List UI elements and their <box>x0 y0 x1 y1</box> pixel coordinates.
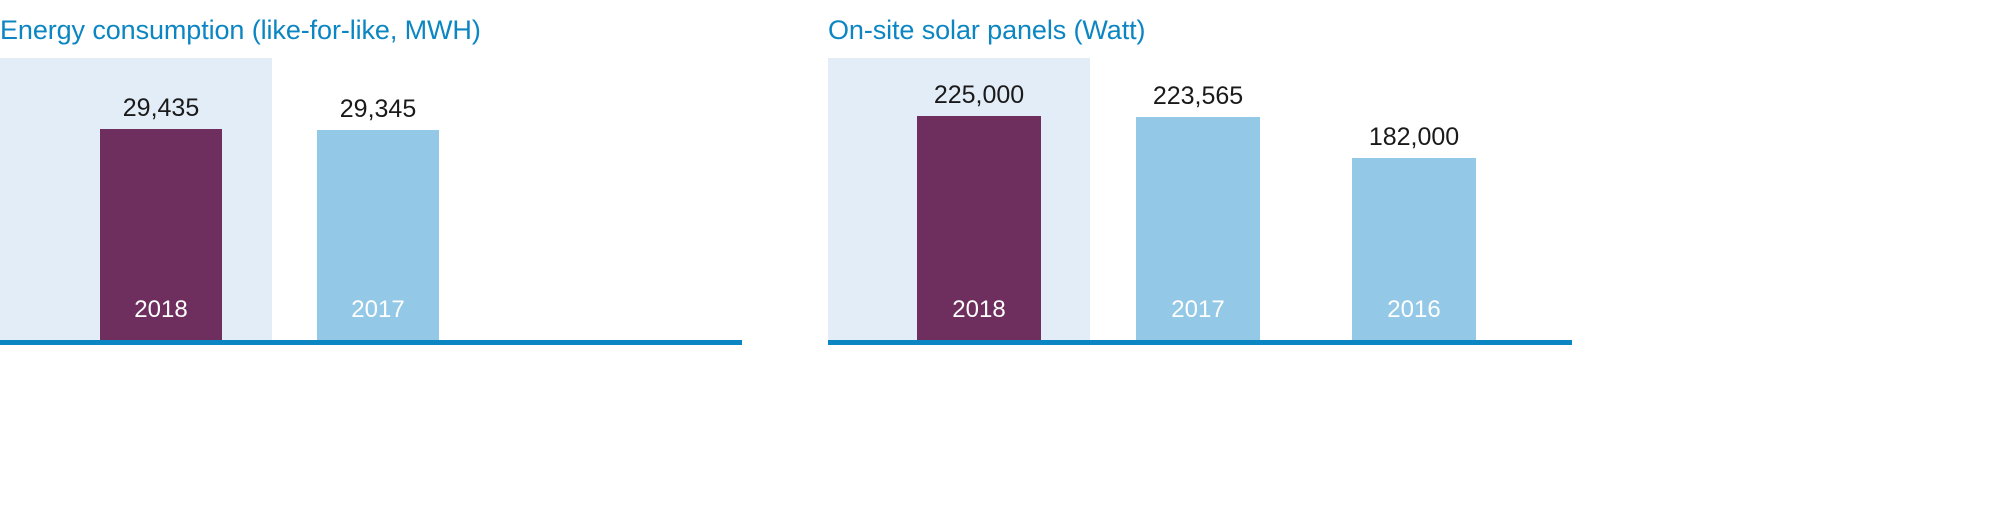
plot-area-energy-consumption: 2018 29,435 2017 29,345 <box>0 58 760 340</box>
bar-2017[interactable]: 2017 <box>317 130 439 340</box>
bar-value-label-2016: 182,000 <box>1312 123 1516 152</box>
bar-column-2017[interactable]: 2017 29,345 <box>317 58 439 340</box>
bar-2017[interactable]: 2017 <box>1136 117 1260 340</box>
chart-title-energy-consumption: Energy consumption (like-for-like, MWH) <box>0 14 481 46</box>
bar-value-label-2017: 223,565 <box>1096 82 1300 111</box>
bar-value-label-2017: 29,345 <box>277 95 479 124</box>
axis-baseline-solar-panels <box>828 340 1572 345</box>
chart-title-solar-panels: On-site solar panels (Watt) <box>828 14 1145 46</box>
chart-panel-solar-panels: On-site solar panels (Watt) 2018 225,000… <box>828 0 2000 518</box>
bar-column-2016[interactable]: 2016 182,000 <box>1352 58 1476 340</box>
bar-2018[interactable]: 2018 <box>100 129 222 340</box>
bar-year-label-2016: 2016 <box>1352 296 1476 324</box>
dashboard-charts: Energy consumption (like-for-like, MWH) … <box>0 0 2000 518</box>
bar-value-label-2018: 29,435 <box>60 94 262 123</box>
bar-2016[interactable]: 2016 <box>1352 158 1476 340</box>
bar-year-label-2018: 2018 <box>100 296 222 324</box>
bar-year-label-2017: 2017 <box>317 296 439 324</box>
plot-area-solar-panels: 2018 225,000 2017 223,565 2016 182,000 <box>828 58 2000 340</box>
bar-2018[interactable]: 2018 <box>917 116 1041 340</box>
bar-value-label-2018: 225,000 <box>877 81 1081 110</box>
chart-panel-energy-consumption: Energy consumption (like-for-like, MWH) … <box>0 0 760 518</box>
axis-baseline-energy-consumption <box>0 340 742 345</box>
bar-year-label-2018: 2018 <box>917 296 1041 324</box>
bar-column-2017[interactable]: 2017 223,565 <box>1136 58 1260 340</box>
bar-column-2018[interactable]: 2018 29,435 <box>100 58 222 340</box>
bar-column-2018[interactable]: 2018 225,000 <box>917 58 1041 340</box>
bar-year-label-2017: 2017 <box>1136 296 1260 324</box>
